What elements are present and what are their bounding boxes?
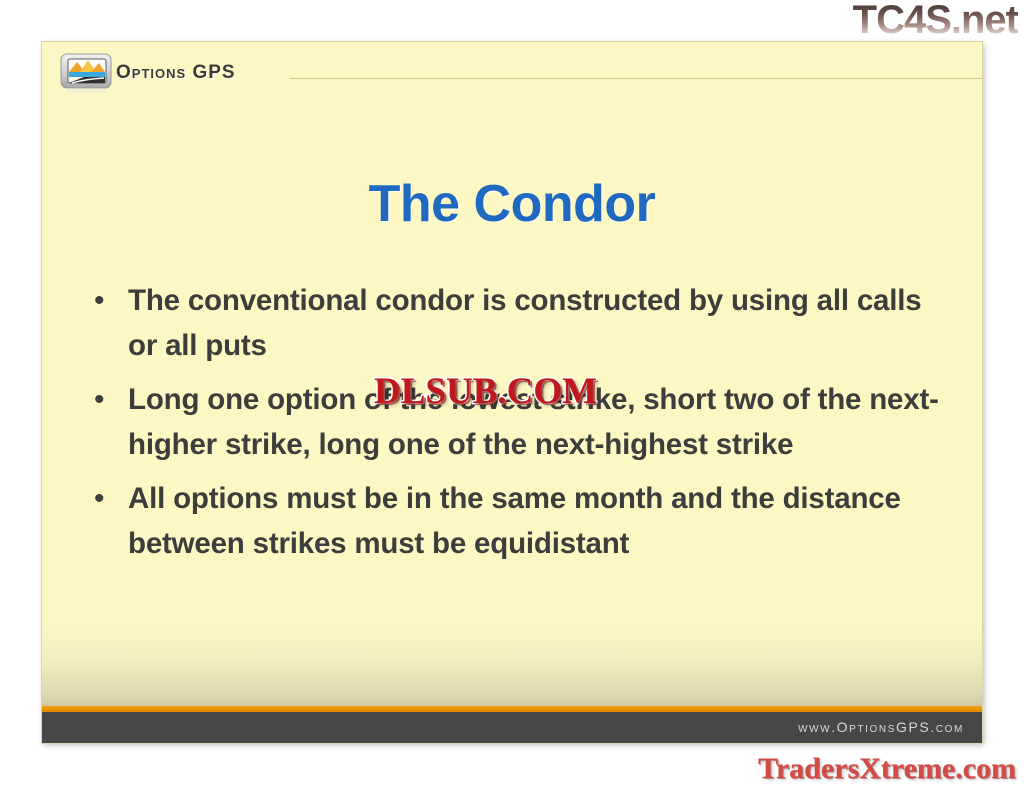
bullet-marker-icon: • [94,278,128,323]
header-divider [290,78,982,79]
footer-website-url: www.OptionsGPS.com [798,719,964,735]
footer-gradient [42,621,982,706]
bullet-marker-icon: • [94,476,128,521]
bullet-text: All options must be in the same month an… [128,476,946,566]
bullet-item: • The conventional condor is constructed… [94,278,946,368]
brand-name: Options GPS [116,62,236,84]
slide-header: Options GPS [42,42,982,100]
slide-title: The Condor [42,174,982,234]
bullet-list: • The conventional condor is constructed… [94,278,946,575]
bullet-text: The conventional condor is constructed b… [128,278,946,368]
site-watermark-bottom-right: TradersXtreme.com [758,752,1016,786]
site-watermark-top-right: TC4S.net [853,0,1018,42]
slide-footer: www.OptionsGPS.com [42,712,982,743]
bullet-marker-icon: • [94,377,128,422]
bullet-item: • All options must be in the same month … [94,476,946,566]
gps-device-icon [60,52,112,94]
overlay-watermark-dlsub: DLSUB.COM [374,372,597,412]
